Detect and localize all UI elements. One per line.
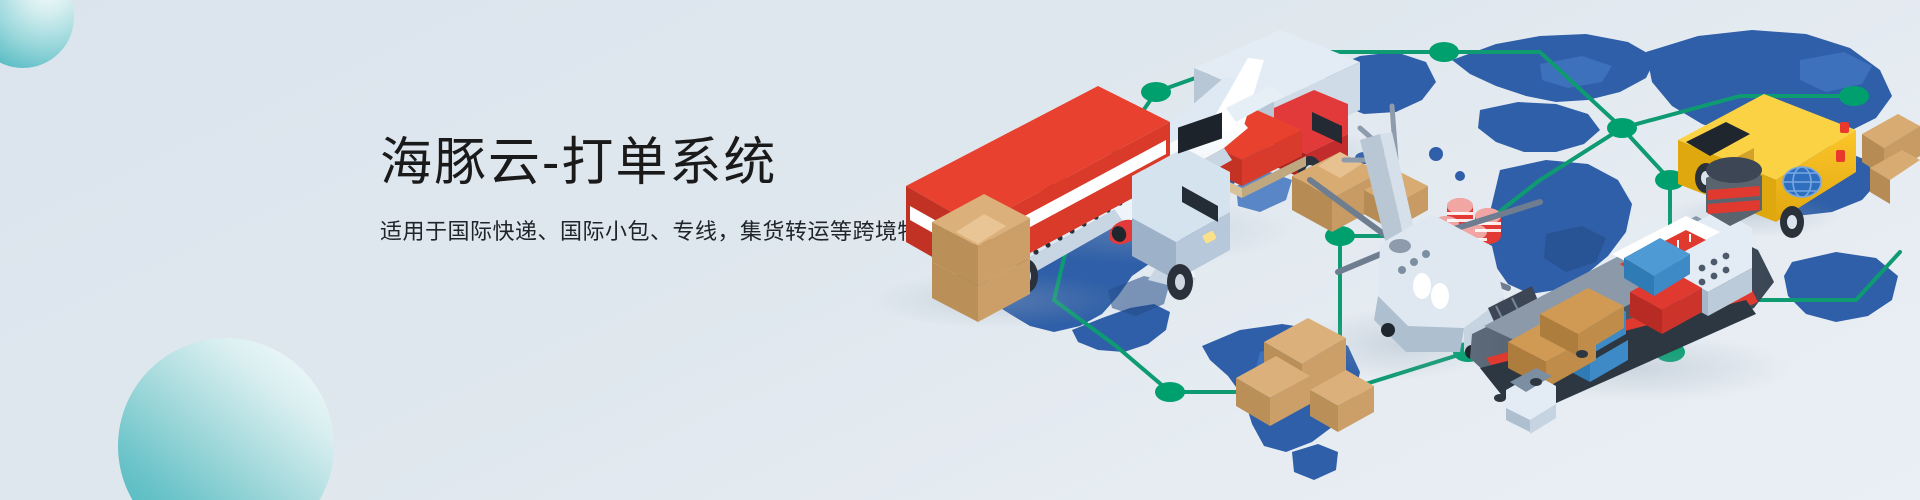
hero-banner: 海豚云-打单系统 适用于国际快递、国际小包、专线，集货转运等跨境物流包裹处理	[0, 0, 1920, 500]
decorative-circle-bottom-left	[118, 338, 334, 500]
decorative-circle-top-left	[0, 0, 74, 68]
logistics-illustration	[840, 0, 1920, 500]
